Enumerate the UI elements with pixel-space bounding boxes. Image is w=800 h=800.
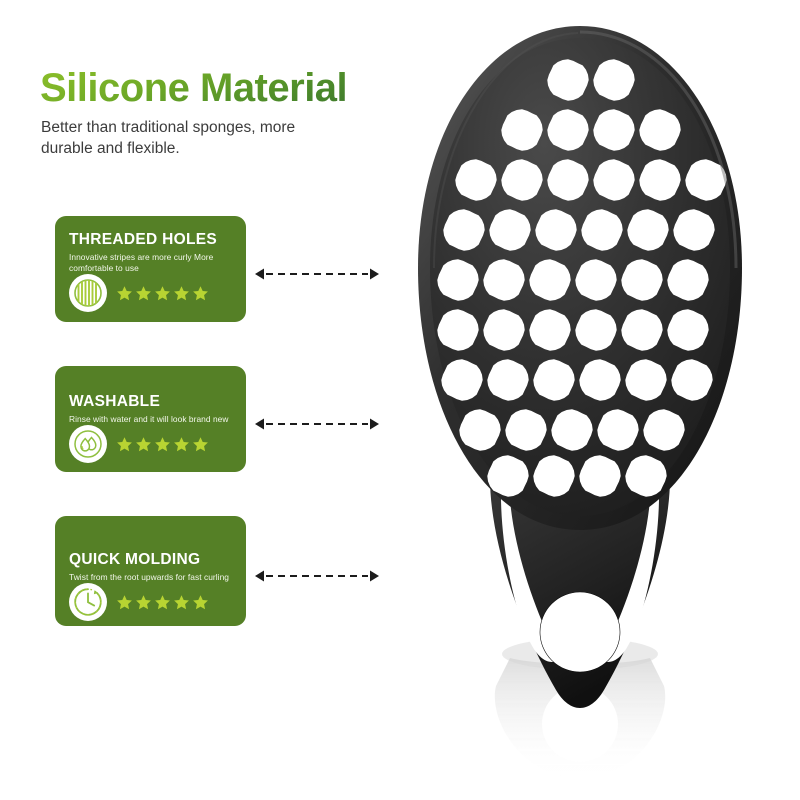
star-icon bbox=[135, 594, 152, 611]
feature-card-footer bbox=[69, 425, 232, 463]
feature-card-description: Innovative stripes are more curly More c… bbox=[69, 252, 232, 274]
feature-card-threaded-holes[interactable]: THREADED HOLES Innovative stripes are mo… bbox=[55, 216, 246, 322]
star-icon bbox=[135, 285, 152, 302]
page-subtitle: Better than traditional sponges, more du… bbox=[41, 118, 351, 160]
water-droplets-icon bbox=[69, 425, 107, 463]
star-icon bbox=[173, 436, 190, 453]
star-icon bbox=[116, 594, 133, 611]
product-feature-infographic: Silicone Material Better than traditiona… bbox=[0, 0, 800, 800]
feature-card-description: Rinse with water and it will look brand … bbox=[69, 414, 232, 425]
star-icon bbox=[192, 594, 209, 611]
rating-stars bbox=[116, 594, 209, 611]
double-headed-dashed-arrow-icon bbox=[253, 267, 381, 281]
star-icon bbox=[192, 436, 209, 453]
feature-card-quick-molding[interactable]: QUICK MOLDING Twist from the root upward… bbox=[55, 516, 246, 626]
double-headed-dashed-arrow-icon bbox=[253, 417, 381, 431]
feature-card-title: QUICK MOLDING bbox=[69, 552, 232, 568]
product-image-silicone-scrubber: KOUPA. bbox=[370, 18, 790, 800]
star-icon bbox=[173, 594, 190, 611]
star-icon bbox=[135, 436, 152, 453]
star-icon bbox=[154, 285, 171, 302]
rating-stars bbox=[116, 285, 209, 302]
star-icon bbox=[192, 285, 209, 302]
page-title: Silicone Material bbox=[40, 68, 347, 108]
star-icon bbox=[116, 285, 133, 302]
star-icon bbox=[154, 594, 171, 611]
feature-card-footer bbox=[69, 583, 232, 621]
feature-card-washable[interactable]: WASHABLE Rinse with water and it will lo… bbox=[55, 366, 246, 472]
star-icon bbox=[154, 436, 171, 453]
product-pad bbox=[418, 26, 742, 530]
clock-icon bbox=[69, 583, 107, 621]
feature-card-description: Twist from the root upwards for fast cur… bbox=[69, 572, 232, 583]
feature-card-footer bbox=[69, 274, 232, 312]
feature-card-title: WASHABLE bbox=[69, 394, 232, 410]
star-icon bbox=[116, 436, 133, 453]
feature-card-title: THREADED HOLES bbox=[69, 232, 232, 248]
striped-circle-icon bbox=[69, 274, 107, 312]
rating-stars bbox=[116, 436, 209, 453]
double-headed-dashed-arrow-icon bbox=[253, 569, 381, 583]
star-icon bbox=[173, 285, 190, 302]
